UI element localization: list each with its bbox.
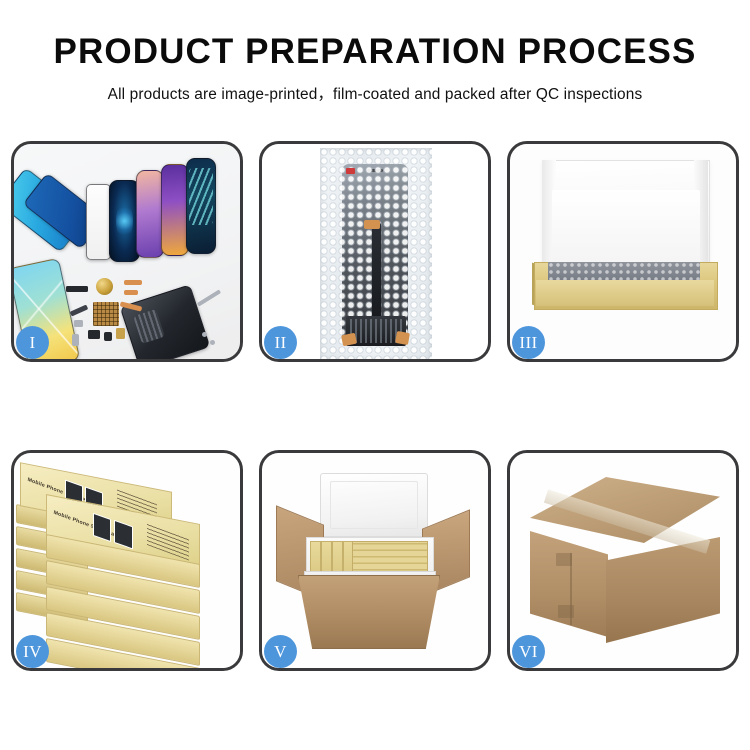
panel-3-image: III: [510, 144, 736, 359]
box-thumb-second-b: [114, 520, 133, 550]
panel-5-image: V: [262, 453, 488, 668]
part-connector-strip: [66, 286, 88, 292]
process-step-panel-5: V: [259, 450, 491, 671]
process-step-panel-1: I: [11, 141, 243, 362]
process-step-grid: I II: [11, 141, 739, 671]
page-subtitle: All products are image-printed，film-coat…: [0, 82, 750, 104]
foam-lid: [320, 473, 428, 537]
ic-chip-grid: [93, 302, 119, 326]
box-thumb-second-a: [93, 513, 111, 542]
box-label-second: Mobile Phone Spare Parts: [53, 510, 122, 541]
phone-screen-teal-stripe: [186, 158, 216, 254]
flex-cable-b: [124, 290, 138, 295]
process-step-panel-4: Mobile Phone Spare Parts Mobile Phone Sp…: [11, 450, 243, 671]
phone-front-glass-white: [86, 184, 111, 260]
flex-cable-a: [124, 280, 142, 285]
phone-screen-purple-orange: [136, 170, 164, 258]
panel-3-step-badge: III: [512, 326, 545, 359]
part-battery-small: [72, 334, 79, 346]
carton-handle-notch-bottom: [558, 605, 574, 618]
panel-6-image: VI: [510, 453, 736, 668]
panel-2-step-badge: II: [264, 326, 297, 359]
process-step-panel-6: VI: [507, 450, 739, 671]
panel-6-step-badge: VI: [512, 635, 545, 668]
lcd-connector-top: [364, 220, 380, 229]
lcd-red-label: [346, 168, 355, 174]
part-metal-bracket: [74, 320, 83, 327]
part-camera-module: [88, 330, 100, 339]
process-step-panel-3: III: [507, 141, 739, 362]
lcd-connector-right: [395, 331, 410, 345]
panel-2-image: II: [262, 144, 488, 359]
white-foam-sheet: [552, 190, 700, 266]
part-screw-b: [210, 340, 215, 345]
panel-1-step-badge: I: [16, 326, 49, 359]
carton-body: [298, 575, 440, 649]
carton-handle-notch-top: [556, 553, 572, 566]
panel-4-step-badge: IV: [16, 635, 49, 668]
page-title: PRODUCT PREPARATION PROCESS: [0, 34, 750, 71]
page-header: PRODUCT PREPARATION PROCESS All products…: [0, 0, 750, 104]
part-gold-contact: [116, 328, 125, 339]
kraft-box-front-wall: [536, 280, 714, 306]
panel-5-step-badge: V: [264, 635, 297, 668]
panel-1-image: I: [14, 144, 240, 359]
process-step-panel-2: II: [259, 141, 491, 362]
panel-4-image: Mobile Phone Spare Parts Mobile Phone Sp…: [14, 453, 240, 668]
speaker-component: [96, 278, 113, 295]
bubble-wrap-bag: [320, 148, 432, 359]
phone-screen-purple-amber: [161, 164, 189, 256]
part-vibrator: [104, 332, 112, 341]
part-screw-a: [202, 332, 207, 337]
